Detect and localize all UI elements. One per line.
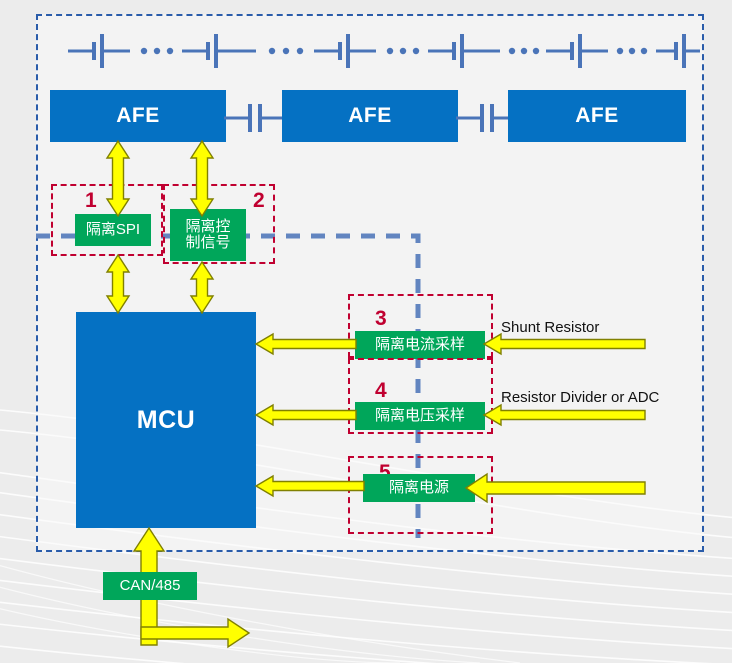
arrow-afe-to-control [191,141,213,216]
shunt-resistor-label: Shunt Resistor [501,319,599,336]
resistor-divider-label: Resistor Divider or ADC [501,389,659,406]
arrow-power-to-mcu [256,476,364,496]
arrow-shunt-to-current-sense [484,334,645,354]
arrow-control-to-mcu [191,262,213,313]
arrow-supply-to-isolated-power [466,474,645,502]
arrow-current-sense-to-mcu [256,334,356,354]
can485-label: CAN/485 [120,578,181,594]
diagram-canvas: AFE AFE AFE 1 隔离SPI 2 隔离控 制信号 [0,0,732,663]
can485-block[interactable]: CAN/485 [103,572,197,600]
arrow-divider-to-voltage-sense [484,405,645,425]
arrow-spi-to-mcu [107,255,129,313]
signal-arrows-layer [0,0,732,663]
arrow-voltage-sense-to-mcu [256,405,356,425]
arrow-afe-to-spi [107,141,129,216]
